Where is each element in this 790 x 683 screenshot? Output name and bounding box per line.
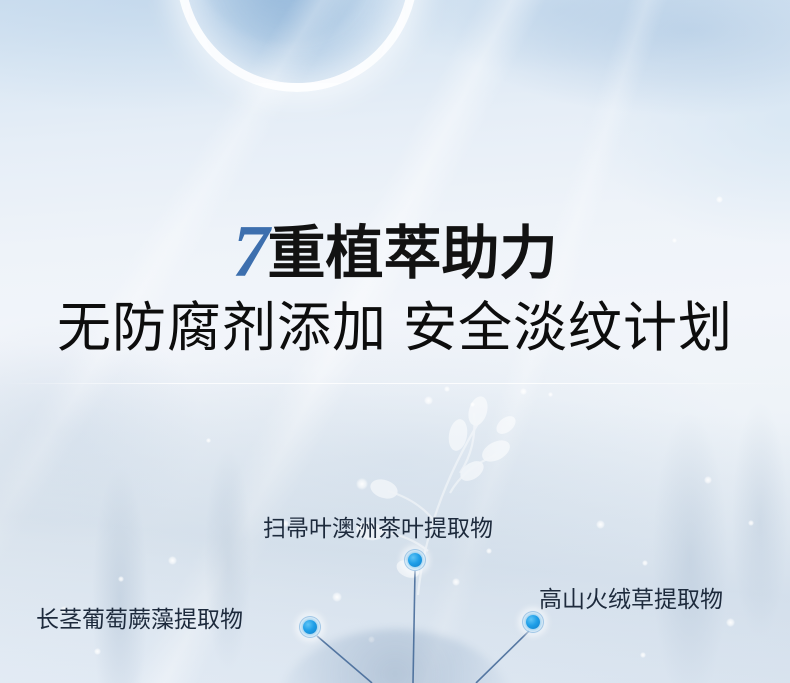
marker-core-icon [526, 615, 540, 629]
callout-label-left: 长茎葡萄蕨藻提取物 [36, 608, 243, 631]
headline-line-1: 7重植萃助力 [0, 215, 790, 289]
headline-block: 7重植萃助力 无防腐剂添加 安全淡纹计划 [0, 215, 790, 355]
marker-core-icon [408, 553, 422, 567]
ingredient-marker-dot-right[interactable] [522, 611, 544, 633]
promo-poster: 7重植萃助力 无防腐剂添加 安全淡纹计划 扫帚叶澳洲茶叶提取物 长茎葡萄蕨藻提取… [0, 0, 790, 683]
ingredient-marker-dot-left[interactable] [299, 616, 321, 638]
ingredient-marker-dot-top[interactable] [404, 549, 426, 571]
headline-line-2: 无防腐剂添加 安全淡纹计划 [0, 301, 790, 355]
marker-core-icon [303, 620, 317, 634]
callout-label-right: 高山火绒草提取物 [539, 588, 723, 611]
callout-label-top: 扫帚叶澳洲茶叶提取物 [263, 517, 493, 540]
headline-line-1-text: 重植萃助力 [267, 221, 557, 286]
headline-number: 7 [232, 211, 265, 293]
